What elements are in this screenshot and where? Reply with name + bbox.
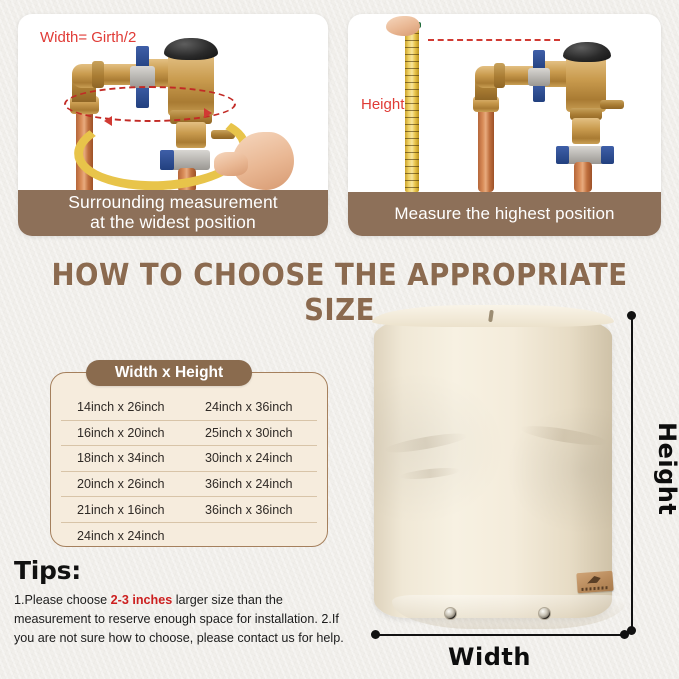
page-title: HOW TO CHOOSE THE APPROPRIATE SIZE <box>27 258 652 328</box>
tips-title: Tips: <box>14 556 344 585</box>
blue-handle-lower-right <box>601 146 614 164</box>
size-cell: 25inch x 30inch <box>189 426 317 440</box>
brass-union-nut <box>92 61 104 88</box>
grommet-right <box>538 607 551 620</box>
valve-clamp <box>528 68 550 86</box>
size-table-rows: 14inch x 26inch 24inch x 36inch 16inch x… <box>61 395 317 549</box>
cover-crease <box>520 422 609 449</box>
brand-wordmark <box>581 586 609 591</box>
height-dimension-line <box>631 315 633 630</box>
tape-ticks <box>405 26 419 192</box>
brand-logo-patch <box>576 571 613 593</box>
brass-cylinder-lower <box>572 118 600 144</box>
black-cap-icon <box>164 38 218 60</box>
table-row: 20inch x 26inch 36inch x 24inch <box>61 472 317 498</box>
blue-handle-lower-left <box>556 146 569 164</box>
annotation-height: Height <box>361 96 404 113</box>
size-cell: 20inch x 26inch <box>61 477 189 491</box>
size-cell: 24inch x 24inch <box>61 529 189 543</box>
brand-mark-icon <box>587 576 601 584</box>
photo-card-width: Width= Girth/2 Surrounding measurement a… <box>18 14 328 236</box>
table-row: 16inch x 20inch 25inch x 30inch <box>61 421 317 447</box>
brass-union <box>494 63 505 88</box>
cover-bottom-band <box>392 595 626 629</box>
product-dimension-diagram: Height Width <box>358 300 679 679</box>
photo-card-height: Height Measure the highest position <box>348 14 661 236</box>
copper-pipe-left <box>478 104 494 192</box>
size-cell: 24inch x 36inch <box>189 400 317 414</box>
tip-1-pre: 1.Please choose <box>14 593 111 607</box>
size-table-panel: 14inch x 26inch 24inch x 36inch 16inch x… <box>50 372 328 547</box>
blue-handle-top <box>533 50 545 70</box>
caption-height: Measure the highest position <box>348 192 661 236</box>
caption-width: Surrounding measurement at the widest po… <box>18 190 328 236</box>
product-cover-image <box>374 309 612 618</box>
width-dimension-line <box>376 634 626 636</box>
test-cock <box>600 100 624 109</box>
size-cell: 21inch x 16inch <box>61 503 189 517</box>
cover-crease <box>400 466 461 481</box>
valve-clamp <box>130 66 155 88</box>
table-row: 24inch x 24inch <box>61 523 317 549</box>
hand-holding-tape <box>386 16 420 36</box>
copper-pipe-right <box>574 162 592 192</box>
caption-width-line2: at the widest position <box>68 212 278 232</box>
top-reference-dashed-line <box>428 39 560 41</box>
table-row: 21inch x 16inch 36inch x 36inch <box>61 497 317 523</box>
tips-block: Tips: 1.Please choose 2-3 inches larger … <box>14 556 344 648</box>
size-cell: 18inch x 34inch <box>61 451 189 465</box>
width-dimension-dot-right <box>620 630 629 639</box>
tape-measure-vertical <box>405 26 419 192</box>
size-cell: 14inch x 26inch <box>61 400 189 414</box>
cover-crease <box>384 430 469 456</box>
tip-1-highlight: 2-3 inches <box>111 593 173 607</box>
black-cap-icon <box>563 42 611 62</box>
size-cell: 30inch x 24inch <box>189 451 317 465</box>
caption-width-line1: Surrounding measurement <box>68 192 278 212</box>
size-cell: 36inch x 24inch <box>189 477 317 491</box>
size-cell: 16inch x 20inch <box>61 426 189 440</box>
grommet-left <box>444 607 457 620</box>
table-row: 18inch x 34inch 30inch x 24inch <box>61 446 317 472</box>
width-dimension-label: Width <box>448 643 531 671</box>
width-dimension-dot-left <box>371 630 380 639</box>
table-row: 14inch x 26inch 24inch x 36inch <box>61 395 317 421</box>
annotation-width-girth: Width= Girth/2 <box>40 29 136 46</box>
size-table-header: Width x Height <box>86 360 252 386</box>
height-dimension-label: Height <box>653 422 679 515</box>
fingers <box>214 152 248 176</box>
tips-body: 1.Please choose 2-3 inches larger size t… <box>14 591 344 648</box>
size-cell: 36inch x 36inch <box>189 503 317 517</box>
